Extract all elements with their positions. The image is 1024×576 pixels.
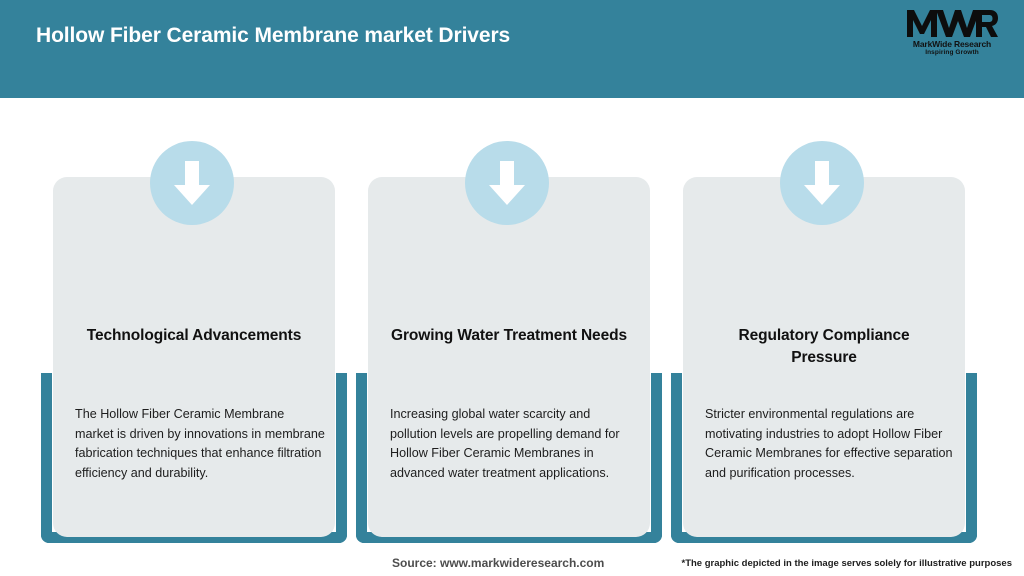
logo-tagline: Inspiring Growth <box>896 49 1008 57</box>
card-title: Technological Advancements <box>75 325 313 347</box>
arrow-down-glyph <box>172 159 212 207</box>
driver-card-surface: Growing Water Treatment Needs Increasing… <box>368 177 650 537</box>
card-body: Increasing global water scarcity and pol… <box>390 405 640 483</box>
arrow-down-icon <box>465 141 549 225</box>
disclaimer-note: *The graphic depicted in the image serve… <box>682 558 1013 569</box>
driver-card-3: Regulatory Compliance Pressure Stricter … <box>671 98 989 538</box>
driver-card-surface: Regulatory Compliance Pressure Stricter … <box>683 177 965 537</box>
mwr-logo-icon <box>906 8 998 38</box>
driver-card-1: Technological Advancements The Hollow Fi… <box>41 98 359 538</box>
arrow-down-icon <box>780 141 864 225</box>
header-bar <box>0 0 1024 98</box>
logo-name: MarkWide Research <box>896 39 1008 49</box>
card-title: Regulatory Compliance Pressure <box>705 325 943 369</box>
drivers-card-row: Technological Advancements The Hollow Fi… <box>0 98 1024 538</box>
driver-card-2: Growing Water Treatment Needs Increasing… <box>356 98 674 538</box>
card-body: Stricter environmental regulations are m… <box>705 405 955 483</box>
page-title: Hollow Fiber Ceramic Membrane market Dri… <box>36 24 510 48</box>
brand-logo: MarkWide Research Inspiring Growth <box>896 8 1008 60</box>
arrow-down-glyph <box>802 159 842 207</box>
arrow-down-glyph <box>487 159 527 207</box>
source-note: Source: www.markwideresearch.com <box>392 556 604 570</box>
card-body: The Hollow Fiber Ceramic Membrane market… <box>75 405 325 483</box>
arrow-down-icon <box>150 141 234 225</box>
card-title: Growing Water Treatment Needs <box>390 325 628 347</box>
driver-card-surface: Technological Advancements The Hollow Fi… <box>53 177 335 537</box>
